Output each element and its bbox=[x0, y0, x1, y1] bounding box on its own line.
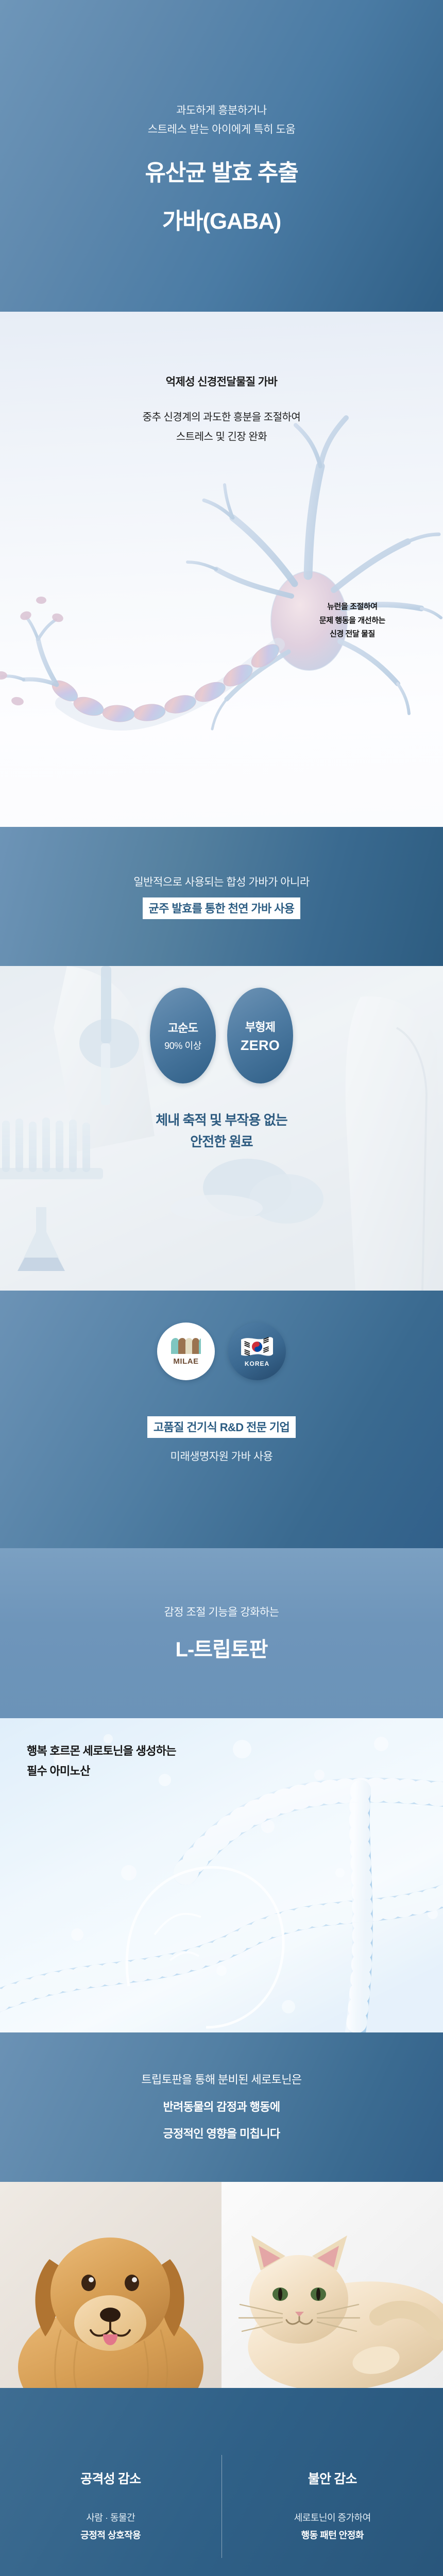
benefit-aggression: 공격성 감소 사람 · 동물간 긍정적 상호작용 bbox=[0, 2469, 221, 2544]
serotonin-copy-line1: 행복 호르몬 세로토닌을 생성하는 bbox=[27, 1741, 443, 1761]
axon-myelin bbox=[48, 640, 283, 724]
gaba-explain-body: 중추 신경계의 과도한 흥분을 조절하여 스트레스 및 긴장 완화 bbox=[0, 408, 443, 447]
purity-copy-line1: 체내 축적 및 부작용 없는 bbox=[0, 1109, 443, 1131]
dog-photo bbox=[0, 2182, 221, 2388]
effect-line3: 긍정적인 영향을 미칩니다 bbox=[163, 2124, 280, 2144]
tryptophan-subtitle: 감정 조절 기능을 강화하는 bbox=[164, 1604, 279, 1619]
serotonin-effect-banner: 트립토판을 통해 분비된 세로토닌은 반려동물의 감정과 행동에 긍정적인 영향… bbox=[0, 2032, 443, 2182]
serotonin-copy: 행복 호르몬 세로토닌을 생성하는 필수 아미노산 bbox=[0, 1718, 443, 1781]
company-subtitle: 미래생명자원 가바 사용 bbox=[147, 1448, 296, 1464]
benefit-aggression-desc: 사람 · 동물간 긍정적 상호작용 bbox=[0, 2509, 221, 2544]
gaba-explain-copy: 억제성 신경전달물질 가바 중추 신경계의 과도한 흥분을 조절하여 스트레스 … bbox=[0, 312, 443, 447]
product-detail-page: 과도하게 흥분하거나 스트레스 받는 아이에게 특히 도움 유산균 발효 추출 … bbox=[0, 0, 443, 2576]
purity-copy-line2: 안전한 원료 bbox=[0, 1131, 443, 1153]
benefit-anxiety-title: 불안 감소 bbox=[222, 2469, 443, 2487]
benefit-anxiety-desc-line2: 행동 패턴 안정화 bbox=[222, 2527, 443, 2544]
benefit-anxiety: 불안 감소 세로토닌이 증가하여 행동 패턴 안정화 bbox=[222, 2469, 443, 2544]
natural-gaba-line1: 일반적으로 사용되는 합성 가바가 아니라 bbox=[133, 874, 309, 889]
milae-logo: MILAE bbox=[157, 1323, 215, 1380]
benefit-aggression-desc-line1: 사람 · 동물간 bbox=[86, 2513, 135, 2523]
benefit-anxiety-desc: 세로토닌이 증가하여 행동 패턴 안정화 bbox=[222, 2509, 443, 2544]
company-section: MILAE bbox=[0, 1291, 443, 1548]
hero-subtitle: 과도하게 흥분하거나 스트레스 받는 아이에게 특히 도움 bbox=[148, 101, 296, 140]
milae-mark-icon bbox=[170, 1337, 202, 1355]
cat-image bbox=[221, 2182, 443, 2388]
hero-section: 과도하게 흥분하거나 스트레스 받는 아이에게 특히 도움 유산균 발효 추출 … bbox=[0, 0, 443, 312]
benefit-anxiety-desc-line1: 세로토닌이 증가하여 bbox=[294, 2513, 371, 2523]
tryptophan-header-section: 감정 조절 기능을 강화하는 L-트립토판 bbox=[0, 1548, 443, 1718]
natural-gaba-highlight: 균주 발효를 통한 천연 가바 사용 bbox=[143, 897, 301, 919]
serotonin-copy-line2: 필수 아미노산 bbox=[27, 1761, 443, 1781]
tryptophan-title: L-트립토판 bbox=[176, 1633, 268, 1663]
pet-photos-section bbox=[0, 2182, 443, 2388]
gaba-explain-section: 억제성 신경전달물질 가바 중추 신경계의 과도한 흥분을 조절하여 스트레스 … bbox=[0, 312, 443, 827]
gaba-explain-heading: 억제성 신경전달물질 가바 bbox=[0, 374, 443, 389]
company-copy: 고품질 건기식 R&D 전문 기업 미래생명자원 가바 사용 bbox=[147, 1416, 296, 1464]
neuron-annotation-line1: 뉴런을 조절하여 bbox=[319, 600, 385, 614]
cat-photo bbox=[221, 2182, 443, 2388]
badge-excipient-zero: 부형제 ZERO bbox=[227, 988, 293, 1083]
badge-high-purity-sub: 90% 이상 bbox=[164, 1039, 201, 1052]
milae-wordmark: MILAE bbox=[173, 1357, 198, 1366]
hero-title-line1: 유산균 발효 추출 bbox=[145, 158, 298, 188]
gaba-explain-body-line2: 스트레스 및 긴장 완화 bbox=[0, 427, 443, 447]
neuron-annotation-line2: 문제 행동을 개선하는 bbox=[319, 614, 385, 628]
company-highlight: 고품질 건기식 R&D 전문 기업 bbox=[147, 1416, 296, 1438]
benefit-aggression-desc-line2: 긍정적 상호작용 bbox=[0, 2527, 221, 2544]
hero-title: 유산균 발효 추출 가바(GABA) bbox=[145, 140, 298, 236]
dog-image bbox=[0, 2182, 221, 2388]
hero-subtitle-line2: 스트레스 받는 아이에게 특히 도움 bbox=[148, 120, 296, 139]
natural-gaba-banner: 일반적으로 사용되는 합성 가바가 아니라 균주 발효를 통한 천연 가바 사용 bbox=[0, 827, 443, 966]
badge-excipient-value: ZERO bbox=[241, 1038, 280, 1054]
axon-terminals bbox=[2, 618, 57, 685]
hero-subtitle-line1: 과도하게 흥분하거나 bbox=[148, 101, 296, 120]
hero-title-line2: 가바(GABA) bbox=[145, 207, 298, 236]
badge-excipient-title: 부형제 bbox=[245, 1018, 275, 1035]
purity-section: 고순도 90% 이상 부형제 ZERO 체내 축적 및 부작용 없는 안전한 원… bbox=[0, 966, 443, 1291]
effect-line2: 반려동물의 감정과 행동에 bbox=[163, 2097, 280, 2117]
gaba-explain-body-line1: 중추 신경계의 과도한 흥분을 조절하여 bbox=[0, 408, 443, 427]
benefit-aggression-title: 공격성 감소 bbox=[0, 2469, 221, 2487]
korea-flag-icon bbox=[240, 1335, 274, 1358]
neuron-annotation-line3: 신경 전달 물질 bbox=[319, 628, 385, 641]
neuron-annotation: 뉴런을 조절하여 문제 행동을 개선하는 신경 전달 물질 bbox=[319, 600, 385, 641]
logo-row: MILAE bbox=[157, 1323, 286, 1380]
benefits-section: 공격성 감소 사람 · 동물간 긍정적 상호작용 불안 감소 세로토닌이 증가하… bbox=[0, 2388, 443, 2576]
korea-wordmark: KOREA bbox=[245, 1360, 269, 1367]
serotonin-section: 행복 호르몬 세로토닌을 생성하는 필수 아미노산 bbox=[0, 1718, 443, 2032]
badge-high-purity: 고순도 90% 이상 bbox=[150, 988, 216, 1083]
badge-high-purity-title: 고순도 bbox=[168, 1019, 198, 1036]
purity-copy: 체내 축적 및 부작용 없는 안전한 원료 bbox=[0, 1109, 443, 1153]
effect-line1: 트립토판을 통해 분비된 세로토닌은 bbox=[141, 2070, 301, 2090]
purity-badges: 고순도 90% 이상 부형제 ZERO bbox=[0, 966, 443, 1083]
korea-logo: KOREA bbox=[228, 1323, 286, 1380]
